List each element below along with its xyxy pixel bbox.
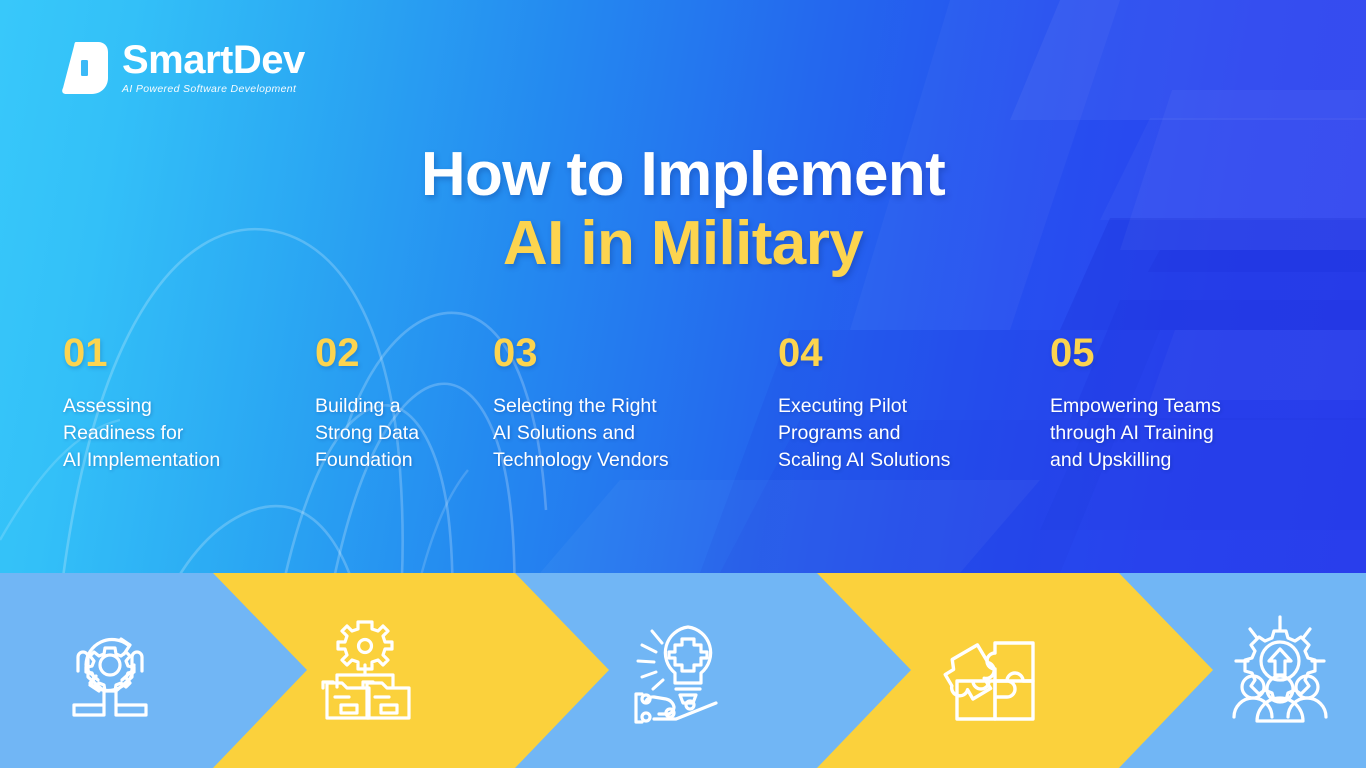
step-number: 03	[493, 333, 766, 373]
smartdev-d-logo-icon	[62, 42, 108, 94]
step-number: 04	[778, 333, 1038, 373]
chevron-band	[0, 573, 1366, 768]
step-item: 01 Assessing Readiness for AI Implementa…	[63, 333, 315, 474]
step-number: 05	[1050, 333, 1288, 373]
step-item: 05 Empowering Teams through AI Training …	[1050, 333, 1300, 474]
step-number: 02	[315, 333, 481, 373]
step-title: Empowering Teams through AI Training and…	[1050, 393, 1288, 474]
steps-list: 01 Assessing Readiness for AI Implementa…	[0, 333, 1366, 474]
step-item: 02 Building a Strong Data Foundation	[315, 333, 493, 474]
step-title: Building a Strong Data Foundation	[315, 393, 481, 474]
brand-tagline: AI Powered Software Development	[122, 83, 305, 95]
step-title: Assessing Readiness for AI Implementatio…	[63, 393, 303, 474]
step-number: 01	[63, 333, 303, 373]
step-item: 04 Executing Pilot Programs and Scaling …	[778, 333, 1050, 474]
step-title: Selecting the Right AI Solutions and Tec…	[493, 393, 766, 474]
title-line-1: How to Implement	[0, 140, 1366, 209]
brand-logo[interactable]: SmartDev AI Powered Software Development	[62, 40, 305, 95]
infographic-canvas: SmartDev AI Powered Software Development…	[0, 0, 1366, 768]
page-title: How to Implement AI in Military	[0, 140, 1366, 279]
step-item: 03 Selecting the Right AI Solutions and …	[493, 333, 778, 474]
brand-name: SmartDev	[122, 40, 305, 80]
step-title: Executing Pilot Programs and Scaling AI …	[778, 393, 1038, 474]
title-line-2: AI in Military	[0, 209, 1366, 278]
